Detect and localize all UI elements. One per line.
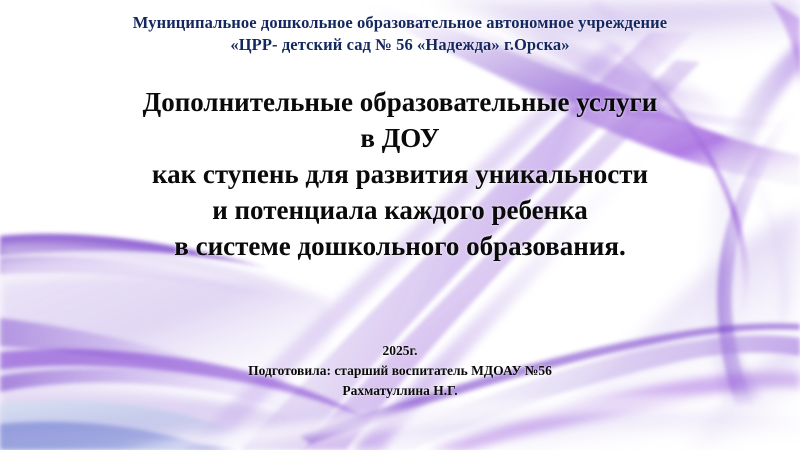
credits-year: 2025г. [0, 341, 800, 361]
title-line-3: как ступень для развития уникальности [0, 157, 800, 193]
title-line-2: в ДОУ [0, 121, 800, 157]
organization-header: Муниципальное дошкольное образовательное… [0, 12, 800, 57]
page-title: Дополнительные образовательные услуги в … [0, 85, 800, 265]
title-line-1: Дополнительные образовательные услуги [0, 85, 800, 121]
org-header-line-2: «ЦРР- детский сад № 56 «Надежда» г.Орска… [0, 34, 800, 56]
credits-block: 2025г. Подготовила: старший воспитатель … [0, 341, 800, 401]
title-line-5: в системе дошкольного образования. [0, 229, 800, 265]
slide-content: Муниципальное дошкольное образовательное… [0, 0, 800, 450]
presentation-title-slide: Муниципальное дошкольное образовательное… [0, 0, 800, 450]
credits-author-name: Рахматуллина Н.Г. [0, 381, 800, 401]
credits-prepared-by: Подготовила: старший воспитатель МДОАУ №… [0, 361, 800, 381]
title-line-4: и потенциала каждого ребенка [0, 193, 800, 229]
org-header-line-1: Муниципальное дошкольное образовательное… [0, 12, 800, 34]
